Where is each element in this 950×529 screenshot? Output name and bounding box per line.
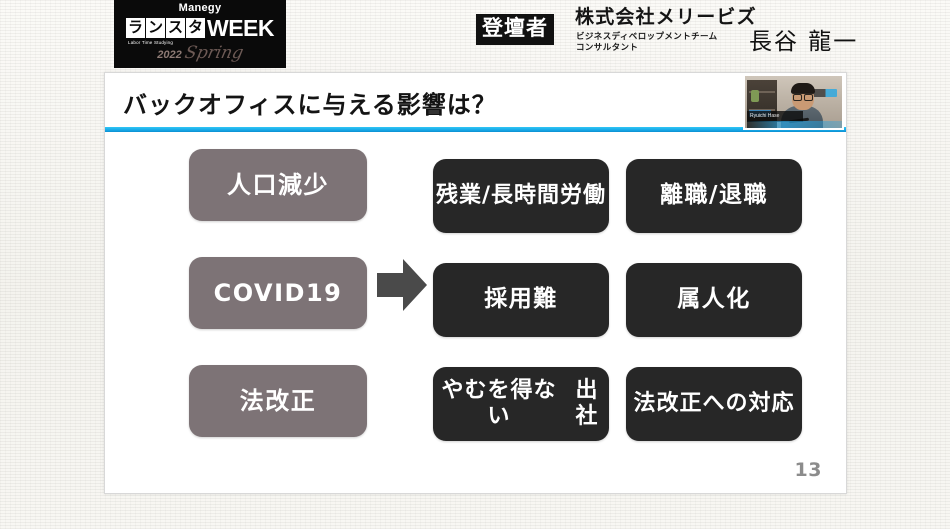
speaker-badge: 登壇者 (476, 14, 554, 45)
flow-arrow-icon (377, 259, 427, 311)
effect-chip-law-compliance-line2: 対応 (749, 391, 795, 417)
effect-chip-forced-commute-line2: 出社 (565, 378, 609, 430)
webinar-stage: Manegy ラ ン ス タ Labor Time Studying WEEK … (0, 0, 950, 529)
effect-chip-forced-commute-line1: やむを得ない (433, 378, 565, 430)
effects-column-middle: 残業/長時間 労働 採用難 やむを得ない 出社 (433, 159, 609, 441)
logo-season-text: Spring (183, 45, 245, 62)
logo-year-text: 2022 (157, 50, 181, 61)
logo-wordmark: ラ ン ス タ Labor Time Studying WEEK (126, 16, 274, 40)
effect-chip-personalization: 属人化 (626, 263, 802, 337)
presentation-slide: バックオフィスに与える影響は？ Ryuichi Hase 人口減少 (104, 72, 847, 494)
speaker-info-strip: 登壇者 株式会社メリービズ ビジネスディベロップメントチーム コンサルタント 長… (476, 4, 946, 66)
logo-brand-text: Manegy (179, 3, 222, 14)
webcam-video-overlay[interactable]: Ryuichi Hase (743, 74, 844, 130)
causes-column: 人口減少 COVID19 法改正 (189, 149, 367, 437)
effect-chip-law-compliance-line1: 法改正への (633, 391, 748, 417)
logo-jp-subtitle: Labor Time Studying (128, 41, 173, 46)
effect-chip-forced-commute: やむを得ない 出社 (433, 367, 609, 441)
speaker-department-line: ビジネスディベロップメントチーム (576, 32, 718, 43)
webcam-accent-swoosh (745, 121, 842, 128)
title-underline-rule (105, 127, 847, 132)
logo-season-row: 2022 Spring (157, 45, 242, 62)
effect-chip-overtime-line1: 残業/長時間 (436, 183, 560, 209)
speaker-role-line: コンサルタント (576, 43, 718, 54)
speaker-person-name: 長谷 龍一 (749, 31, 858, 54)
event-logo: Manegy ラ ン ス タ Labor Time Studying WEEK … (114, 0, 286, 68)
webcam-person-glasses (793, 93, 813, 99)
slide-title: バックオフィスに与える影響は？ (123, 93, 497, 117)
logo-jp-char-3: ス (166, 18, 185, 38)
effect-chip-turnover: 離職/退職 (626, 159, 802, 233)
effects-column-right: 離職/退職 属人化 法改正への 対応 (626, 159, 802, 441)
effect-chip-hiring-difficulty: 採用難 (433, 263, 609, 337)
cause-chip-population: 人口減少 (189, 149, 367, 221)
logo-jp-char-4: タ (186, 18, 205, 38)
slide-page-number: 13 (795, 459, 822, 481)
webcam-shelf-item-green (751, 90, 759, 102)
webcam-name-label: Ryuichi Hase (750, 112, 779, 121)
effect-chip-overtime: 残業/長時間 労働 (433, 159, 609, 233)
logo-jp-char-2: ン (146, 18, 165, 38)
logo-week-text: WEEK (207, 17, 274, 40)
logo-jp-boxes: ラ ン ス タ Labor Time Studying (126, 18, 205, 38)
effect-chip-overtime-line2: 労働 (560, 183, 606, 209)
cause-chip-covid: COVID19 (189, 257, 367, 329)
logo-jp-char-1: ラ (126, 18, 145, 38)
speaker-company-name: 株式会社メリービズ (575, 7, 757, 28)
cause-chip-law-revision: 法改正 (189, 365, 367, 437)
effect-chip-law-compliance: 法改正への 対応 (626, 367, 802, 441)
speaker-department: ビジネスディベロップメントチーム コンサルタント (576, 32, 718, 55)
